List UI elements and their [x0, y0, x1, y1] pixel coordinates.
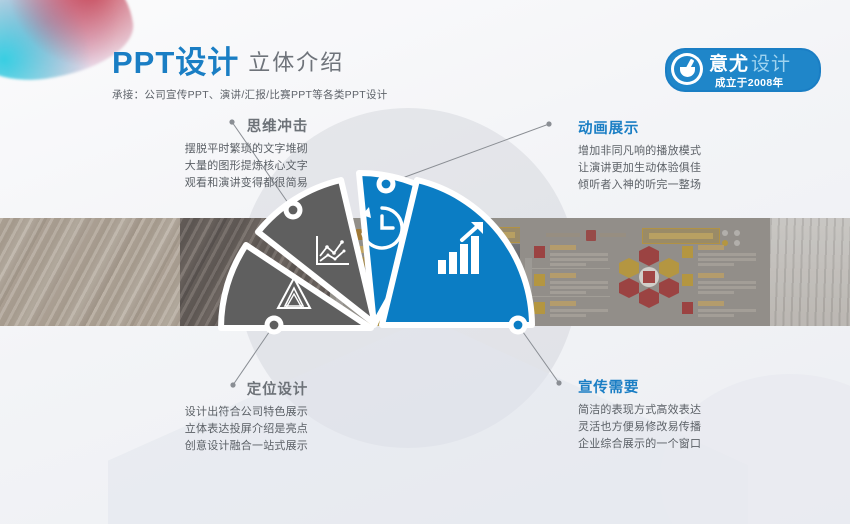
connector-top-right	[386, 124, 549, 184]
block-donghua-body: 增加非同凡响的播放模式 让演讲更加生动体验俱佳 倾听者入神的听完一整场	[578, 143, 814, 194]
block-siwei-title: 思维冲击	[72, 120, 308, 135]
block-xuanchuan-title: 宣传需要	[578, 381, 814, 396]
endpoint-bottom-right	[556, 380, 561, 385]
block-donghua-title: 动画展示	[578, 122, 814, 137]
block-siwei: 思维冲击 摆脱平时繁琐的文字堆砌 大量的图形提炼核心文字 观看和演讲变得都很简易	[72, 120, 308, 192]
connector-bottom-right	[518, 325, 559, 383]
block-donghua: 动画展示 增加非同凡响的播放模式 让演讲更加生动体验俱佳 倾听者入神的听完一整场	[578, 122, 814, 194]
slide-canvas: PPT设计立体介绍 承接：公司宣传PPT、演讲/汇报/比赛PPT等各类PPT设计…	[0, 0, 850, 524]
block-xuanchuan-body: 简洁的表现方式高效表达 灵活也方便易修改易传播 企业综合展示的一个窗口	[578, 402, 814, 453]
block-siwei-body: 摆脱平时繁琐的文字堆砌 大量的图形提炼核心文字 观看和演讲变得都很简易	[185, 141, 308, 192]
block-dingwei: 定位设计 设计出符合公司特色展示 立体表达投屏介绍是亮点 创意设计融合一站式展示	[72, 383, 308, 455]
block-dingwei-title: 定位设计	[72, 383, 308, 398]
connector-bottom-left	[233, 325, 274, 385]
block-xuanchuan: 宣传需要 简洁的表现方式高效表达 灵活也方便易修改易传播 企业综合展示的一个窗口	[578, 381, 814, 453]
endpoint-top-right	[546, 121, 551, 126]
block-dingwei-body: 设计出符合公司特色展示 立体表达投屏介绍是亮点 创意设计融合一站式展示	[185, 404, 308, 455]
